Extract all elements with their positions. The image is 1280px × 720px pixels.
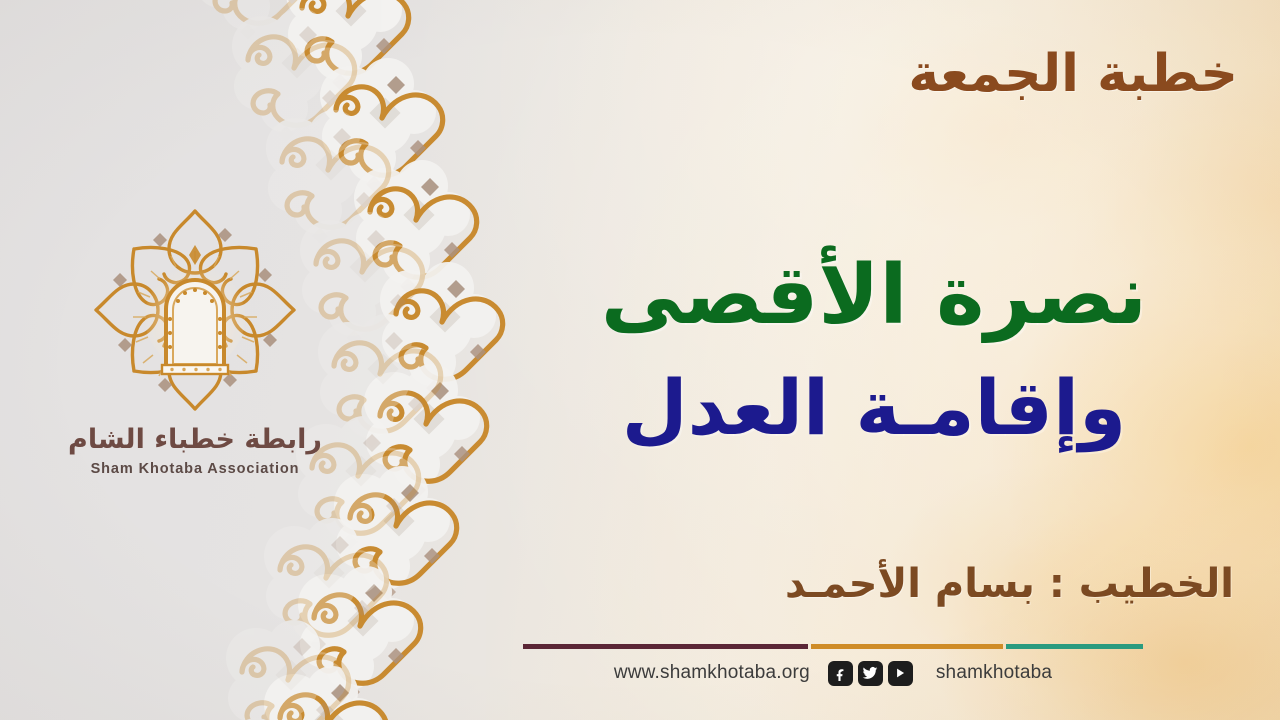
association-logo: رابطة خطباء الشام Sham Khotaba Associati… [60, 205, 330, 477]
footer-bar: www.shamkhotaba.org shamkhotaba [523, 655, 1143, 691]
website-url[interactable]: www.shamkhotaba.org [614, 662, 810, 684]
youtube-icon[interactable] [888, 661, 913, 686]
divider-segment-teal [1006, 644, 1143, 649]
divider-segment-maroon [523, 644, 808, 649]
divider-segment-gold [811, 644, 1003, 649]
sermon-title-line-2: وإقامـة العدل [514, 367, 1234, 449]
social-links [828, 661, 913, 686]
speaker-name: الخطيب : بسام الأحمـد [785, 561, 1234, 607]
twitter-icon[interactable] [858, 661, 883, 686]
mihrab-arch-logo-icon [90, 205, 300, 415]
social-handle: shamkhotaba [936, 662, 1052, 684]
poster-canvas: رابطة خطباء الشام Sham Khotaba Associati… [0, 0, 1280, 720]
logo-name-english: Sham Khotaba Association [60, 461, 330, 477]
logo-name-arabic: رابطة خطباء الشام [60, 425, 330, 455]
facebook-icon[interactable] [828, 661, 853, 686]
kicker-friday-sermon: خطبة الجمعة [908, 48, 1238, 100]
sermon-title: نصرة الأقصى وإقامـة العدل [514, 252, 1234, 449]
sermon-title-line-1: نصرة الأقصى [514, 252, 1234, 341]
footer-divider [523, 644, 1143, 649]
